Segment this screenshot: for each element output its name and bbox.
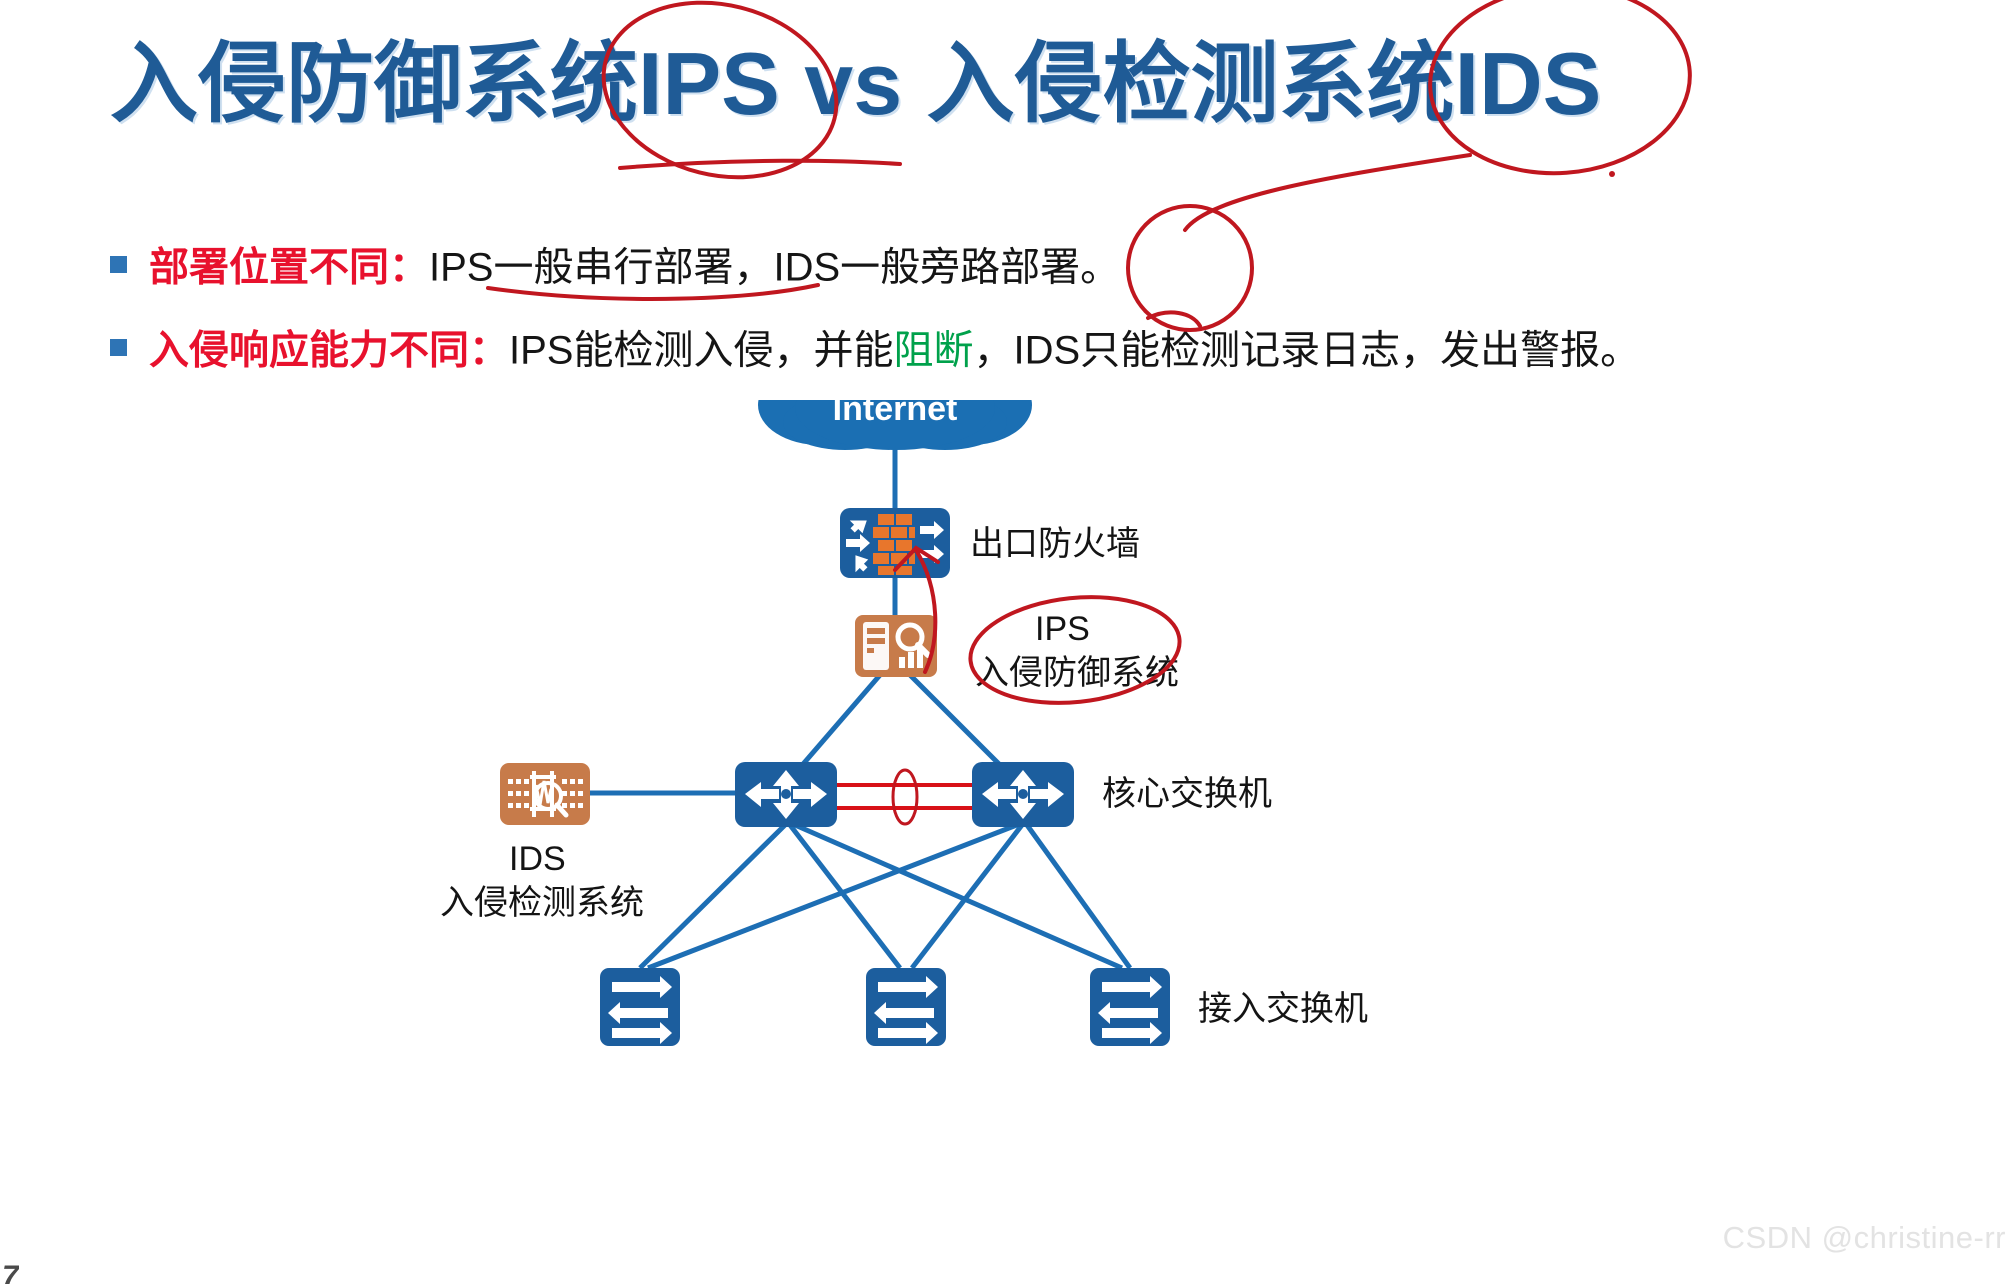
core-link-annotation-ellipse <box>893 770 917 824</box>
ids-label-abbr: IDS <box>509 840 566 878</box>
bullet-key-text: 部署位置不同： <box>149 245 429 289</box>
annotation-dot-title-ids <box>1609 171 1615 177</box>
csdn-watermark: CSDN @christine-rr <box>1723 1220 2006 1256</box>
ips-label-abbr: IPS <box>1035 610 1090 648</box>
network-topology-diagram: Internet 出口防火墙 <box>0 400 2012 1284</box>
annotation-mark-block <box>1148 312 1200 326</box>
core-switch-icon <box>972 762 1074 827</box>
ips-icon <box>855 615 937 677</box>
access-switch-node-2[interactable] <box>866 968 946 1046</box>
core-switch-right-node[interactable]: 核心交换机 <box>972 762 1272 827</box>
annotation-sweep-ids-to-bullet <box>1185 155 1470 230</box>
annotation-underline-title-ips <box>620 161 900 168</box>
ips-node[interactable]: IPS 入侵防御系统 <box>855 610 1179 692</box>
ids-node[interactable]: IDS 入侵检测系统 <box>440 763 644 922</box>
bullet-highlight-text: 阻断 <box>893 328 973 372</box>
bullet-body-text: IPS一般串行部署，IDS一般旁路部署。 <box>429 245 1120 289</box>
access-switch-icon <box>866 968 946 1046</box>
internet-cloud-label: Internet <box>833 400 958 428</box>
bullet-body-text: IPS能检测入侵，并能 <box>509 328 893 372</box>
ids-label-full: 入侵检测系统 <box>440 884 644 922</box>
firewall-node[interactable]: 出口防火墙 <box>840 508 1140 578</box>
access-switch-node-3[interactable]: 接入交换机 <box>1090 968 1368 1046</box>
annotation-ellipse-ips-label <box>965 587 1185 712</box>
bullet-key-text: 入侵响应能力不同： <box>149 328 509 372</box>
core-switch-label: 核心交换机 <box>1102 775 1272 813</box>
bullet-marker-icon <box>110 256 127 273</box>
ips-label-full: 入侵防御系统 <box>975 654 1179 692</box>
page-title: 入侵防御系统IPS vs 入侵检测系统IDS <box>110 38 1601 130</box>
bullet-item-response: 入侵响应能力不同：IPS能检测入侵，并能阻断，IDS只能检测记录日志，发出警报。 <box>110 328 1640 370</box>
link-core-to-core <box>837 770 972 824</box>
annotation-ellipse-bypass <box>1128 206 1252 330</box>
link-coreleft-access1 <box>640 825 785 968</box>
bullet-marker-icon <box>110 339 127 356</box>
core-switch-left-node[interactable] <box>735 762 837 827</box>
access-switch-icon <box>600 968 680 1046</box>
ids-icon <box>500 763 590 825</box>
internet-cloud-node[interactable]: Internet <box>758 400 1032 450</box>
access-switch-node-1[interactable] <box>600 968 680 1046</box>
access-switch-icon <box>1090 968 1170 1046</box>
bullet-tail-text: ，IDS只能检测记录日志，发出警报。 <box>973 328 1640 372</box>
firewall-label: 出口防火墙 <box>970 525 1140 563</box>
access-switch-label: 接入交换机 <box>1198 990 1368 1028</box>
core-switch-icon <box>735 762 837 827</box>
bullet-item-deployment: 部署位置不同：IPS一般串行部署，IDS一般旁路部署。 <box>110 245 1120 287</box>
slide-page-number: 7 <box>2 1262 19 1284</box>
